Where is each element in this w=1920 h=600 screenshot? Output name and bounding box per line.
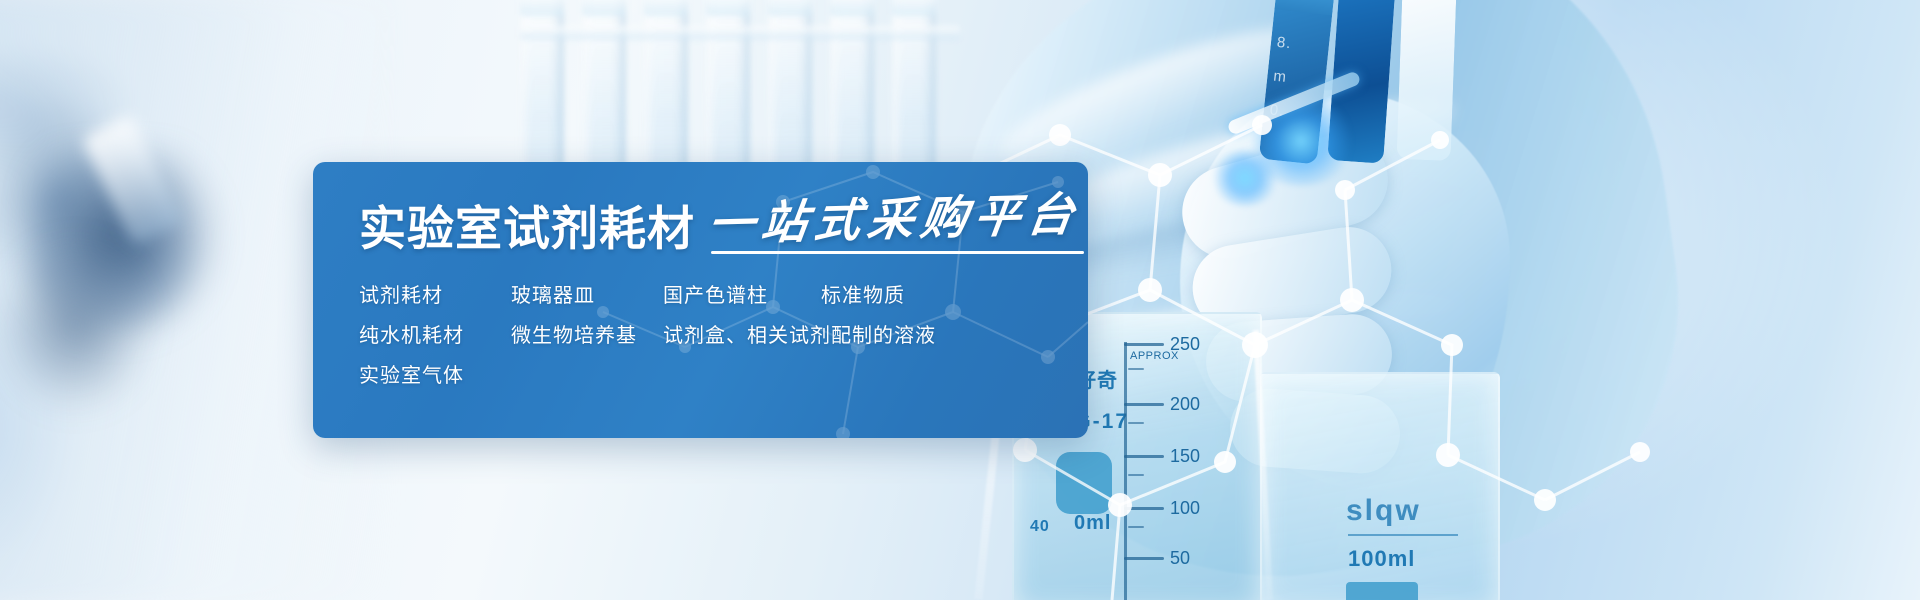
category-item[interactable]: 微生物培养基: [511, 324, 663, 348]
beaker-volume-label: 100ml: [1348, 546, 1415, 572]
graduation-label: 50: [1170, 548, 1190, 569]
category-item[interactable]: 试剂盒、相关试剂配制的溶液: [663, 324, 936, 348]
card-headline: 实验室试剂耗材 一站式采购平台: [359, 196, 1088, 252]
tube-glow: [1210, 150, 1280, 206]
category-item[interactable]: 标准物质: [821, 284, 905, 308]
graduation-approx-label: APPROX: [1130, 350, 1179, 362]
beaker-liquid-patch: [1056, 452, 1112, 514]
category-item[interactable]: 纯水机耗材: [359, 324, 511, 348]
promo-card: 实验室试剂耗材 一站式采购平台 试剂耗材 玻璃器皿 国产色谱柱 标准物质 纯水机…: [313, 162, 1088, 438]
beaker-small-label: 40: [1030, 518, 1050, 536]
beaker-graduation-column: 250 APPROX 200 150 100: [1124, 334, 1224, 600]
graduation-label: 150: [1170, 446, 1200, 467]
graduation-label: 100: [1170, 498, 1200, 519]
headline-primary-text: 实验室试剂耗材: [359, 205, 695, 252]
category-item[interactable]: 国产色谱柱: [663, 284, 821, 308]
beaker-slqw: slqw 100ml: [1260, 372, 1500, 600]
category-row: 实验室气体: [359, 364, 1088, 388]
headline-script-wrap: 一站式采购平台: [709, 196, 1080, 252]
headline-script-text: 一站式采购平台: [705, 191, 1083, 247]
beaker-brand-rule: [1348, 534, 1458, 536]
headline-underline: [711, 251, 1084, 254]
category-item[interactable]: 试剂耗材: [359, 284, 511, 308]
category-item[interactable]: 实验室气体: [359, 364, 511, 388]
background-microscope-base-blur: [0, 240, 150, 410]
test-tube-clear: [1397, 0, 1458, 161]
category-row: 纯水机耗材 微生物培养基 试剂盒、相关试剂配制的溶液: [359, 324, 1088, 348]
beaker-brand: slqw: [1346, 494, 1421, 528]
category-list: 试剂耗材 玻璃器皿 国产色谱柱 标准物质 纯水机耗材 微生物培养基 试剂盒、相关…: [359, 284, 1088, 388]
beaker-volume-label: 0ml: [1074, 512, 1111, 535]
lab-reagent-banner: 8. m 0. 好奇 GG-17 0ml 40: [0, 0, 1920, 600]
graduation-label: 200: [1170, 394, 1200, 415]
beaker-liquid-patch: [1346, 582, 1418, 600]
category-row: 试剂耗材 玻璃器皿 国产色谱柱 标准物质: [359, 284, 1088, 308]
category-item[interactable]: 玻璃器皿: [511, 284, 663, 308]
